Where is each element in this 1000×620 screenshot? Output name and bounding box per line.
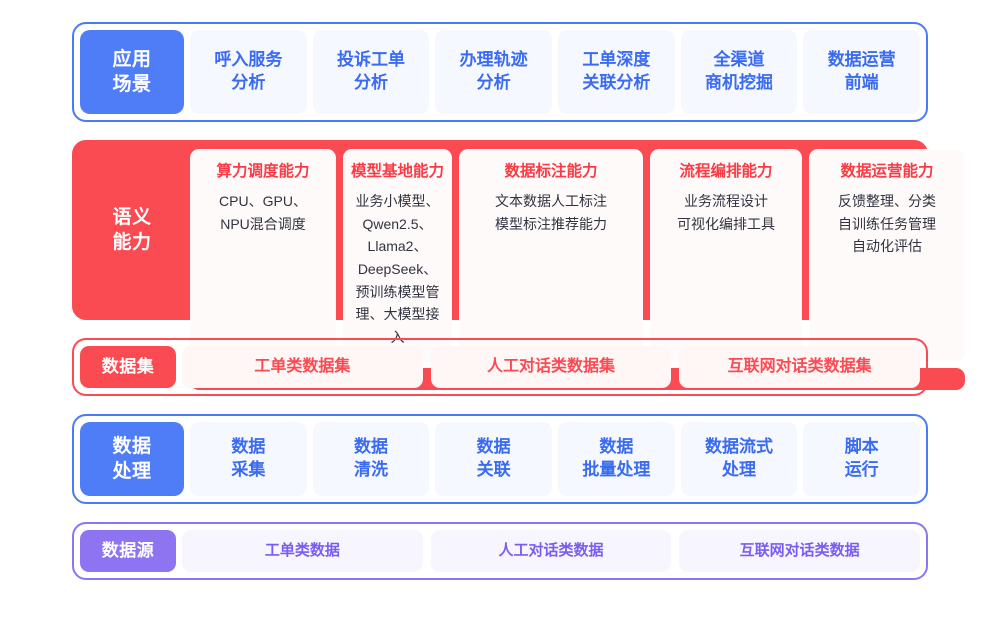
capability-body: 文本数据人工标注 模型标注推荐能力 [495, 190, 607, 235]
row-data-processing: 数据 处理 数据 采集 数据 清洗 数据 关联 数据 批量处理 数据流式 处理 … [72, 414, 928, 504]
semantic-capability-cards: 算力调度能力 CPU、GPU、 NPU混合调度 模型基地能力 业务小模型、Qwe… [190, 149, 965, 361]
data-processing-cards: 数据 采集 数据 清洗 数据 关联 数据 批量处理 数据流式 处理 脚本 运行 [190, 422, 920, 496]
row-semantic-capability: 语义 能力 算力调度能力 CPU、GPU、 NPU混合调度 模型基地能力 业务小… [72, 140, 928, 320]
capability-title: 模型基地能力 [351, 159, 444, 181]
row-data-source: 数据源 工单类数据 人工对话类数据 互联网对话类数据 [72, 522, 928, 580]
card-data-annotation-capability[interactable]: 数据标注能力 文本数据人工标注 模型标注推荐能力 [459, 149, 643, 361]
row-badge-dataset: 数据集 [80, 346, 176, 388]
card-proc-data-stream-processing[interactable]: 数据流式 处理 [681, 422, 798, 496]
card-dataset-internet-dialogue[interactable]: 互联网对话类数据集 [679, 346, 920, 388]
capability-body: CPU、GPU、 NPU混合调度 [219, 190, 307, 235]
card-data-operation-capability[interactable]: 数据运营能力 反馈整理、分类 自训练任务管理 自动化评估 [809, 149, 965, 361]
card-app-omnichannel-opportunity-mining[interactable]: 全渠道 商机挖掘 [681, 30, 798, 114]
application-scenario-cards: 呼入服务 分析 投诉工单 分析 办理轨迹 分析 工单深度 关联分析 全渠道 商机… [190, 30, 920, 114]
dataset-cards: 工单类数据集 人工对话类数据集 互联网对话类数据集 [182, 346, 920, 388]
capability-title: 数据运营能力 [841, 159, 934, 181]
card-proc-data-cleaning[interactable]: 数据 清洗 [313, 422, 430, 496]
card-proc-data-batch-processing[interactable]: 数据 批量处理 [558, 422, 675, 496]
card-app-ticket-deep-correlation-analysis[interactable]: 工单深度 关联分析 [558, 30, 675, 114]
card-app-inbound-service-analysis[interactable]: 呼入服务 分析 [190, 30, 307, 114]
card-dataset-human-dialogue[interactable]: 人工对话类数据集 [431, 346, 672, 388]
semantic-capability-content: 算力调度能力 CPU、GPU、 NPU混合调度 模型基地能力 业务小模型、Qwe… [190, 149, 965, 311]
card-app-handling-trace-analysis[interactable]: 办理轨迹 分析 [435, 30, 552, 114]
card-source-ticket-data[interactable]: 工单类数据 [182, 530, 423, 572]
row-dataset: 数据集 工单类数据集 人工对话类数据集 互联网对话类数据集 [72, 338, 928, 396]
row-badge-semantic-capability: 语义 能力 [81, 149, 183, 311]
capability-body: 反馈整理、分类 自训练任务管理 自动化评估 [838, 190, 936, 258]
data-source-cards: 工单类数据 人工对话类数据 互联网对话类数据 [182, 530, 920, 572]
row-badge-application-scenarios: 应用 场景 [80, 30, 184, 114]
card-proc-data-correlation[interactable]: 数据 关联 [435, 422, 552, 496]
row-badge-data-processing: 数据 处理 [80, 422, 184, 496]
card-source-internet-dialogue-data[interactable]: 互联网对话类数据 [679, 530, 920, 572]
card-model-base-capability[interactable]: 模型基地能力 业务小模型、Qwen2.5、 Llama2、DeepSeek、 预… [343, 149, 452, 361]
card-app-complaint-ticket-analysis[interactable]: 投诉工单 分析 [313, 30, 430, 114]
card-source-human-dialogue-data[interactable]: 人工对话类数据 [431, 530, 672, 572]
row-badge-data-source: 数据源 [80, 530, 176, 572]
row-application-scenarios: 应用 场景 呼入服务 分析 投诉工单 分析 办理轨迹 分析 工单深度 关联分析 … [72, 22, 928, 122]
architecture-diagram: 应用 场景 呼入服务 分析 投诉工单 分析 办理轨迹 分析 工单深度 关联分析 … [0, 0, 1000, 620]
capability-title: 算力调度能力 [216, 159, 309, 181]
card-dataset-ticket[interactable]: 工单类数据集 [182, 346, 423, 388]
card-compute-scheduling-capability[interactable]: 算力调度能力 CPU、GPU、 NPU混合调度 [190, 149, 336, 361]
card-process-orchestration-capability[interactable]: 流程编排能力 业务流程设计 可视化编排工具 [650, 149, 802, 361]
capability-body: 业务流程设计 可视化编排工具 [677, 190, 775, 235]
capability-title: 数据标注能力 [505, 159, 598, 181]
card-proc-data-collection[interactable]: 数据 采集 [190, 422, 307, 496]
card-proc-script-execution[interactable]: 脚本 运行 [803, 422, 920, 496]
capability-title: 流程编排能力 [680, 159, 773, 181]
capability-body: 业务小模型、Qwen2.5、 Llama2、DeepSeek、 预训练模型管理、… [351, 190, 444, 349]
card-app-data-operation-frontend[interactable]: 数据运营 前端 [803, 30, 920, 114]
